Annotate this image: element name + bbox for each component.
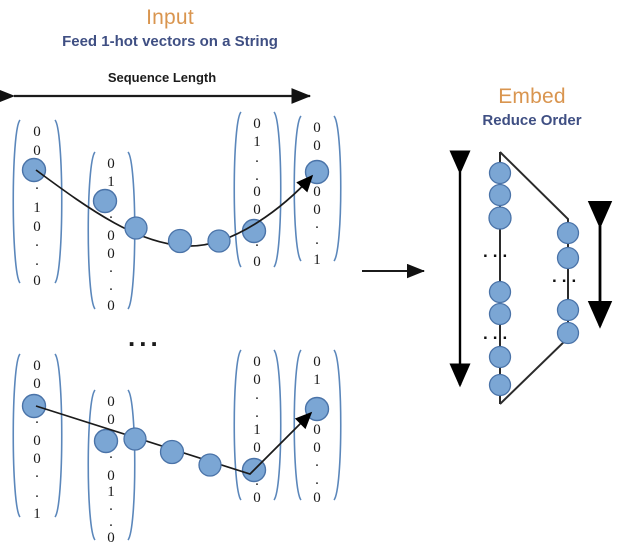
reduced-order-node	[558, 323, 579, 344]
svg-text:·: ·	[315, 220, 320, 236]
vector-digits: 0 1 0 0 · · 0	[313, 354, 321, 506]
high-order-node	[490, 304, 511, 325]
vector-digits: 0 1 · 0 0 · · 0	[107, 156, 115, 314]
one-hot-node	[243, 220, 266, 243]
svg-text:1: 1	[107, 174, 115, 190]
svg-text:·: ·	[35, 489, 40, 505]
reduced-order-node	[558, 248, 579, 269]
path-node	[169, 230, 192, 253]
svg-text:0: 0	[33, 358, 41, 374]
svg-text:0: 0	[253, 440, 261, 456]
svg-text:·: ·	[109, 264, 114, 280]
path-node	[199, 454, 221, 476]
path-node-group	[124, 428, 221, 476]
svg-text:1: 1	[107, 484, 115, 500]
svg-text:0: 0	[253, 116, 261, 132]
diagram-canvas: Input Feed 1-hot vectors on a String Seq…	[0, 0, 624, 552]
top-sequence-row: 0 0 · 1 0 · · 0 0 1 · 0 0 ·	[13, 112, 341, 314]
one-hot-node	[94, 190, 117, 213]
svg-text:·: ·	[35, 181, 40, 197]
svg-text:0: 0	[107, 412, 115, 428]
high-order-node	[490, 185, 511, 206]
svg-text:0: 0	[107, 394, 115, 410]
svg-text:·: ·	[35, 469, 40, 485]
high-order-node	[490, 375, 511, 396]
svg-text:1: 1	[253, 134, 261, 150]
vector-digits: 0 0 · 0 0 · · 1	[33, 358, 41, 522]
vector-digits: 0 0 · 1 0 · · 0	[33, 124, 41, 289]
svg-text:0: 0	[33, 376, 41, 392]
svg-text:·: ·	[35, 238, 40, 254]
svg-text:0: 0	[107, 228, 115, 244]
svg-text:0: 0	[253, 184, 261, 200]
svg-text:0: 0	[33, 124, 41, 140]
svg-text:0: 0	[33, 143, 41, 159]
path-node	[161, 441, 184, 464]
svg-text:0: 0	[313, 440, 321, 456]
vector-digits: 0 1 · · 0 0 · 0	[253, 116, 261, 270]
vector-digits: 0 0 · · 1 0 · 0	[253, 354, 261, 506]
high-order-node	[490, 347, 511, 368]
svg-text:0: 0	[33, 273, 41, 289]
svg-text:0: 0	[253, 372, 261, 388]
svg-text:0: 0	[313, 184, 321, 200]
svg-text:0: 0	[313, 202, 321, 218]
reduced-order-ellipsis: ...	[552, 268, 581, 285]
svg-text:0: 0	[313, 138, 321, 154]
svg-text:0: 0	[313, 354, 321, 370]
high-order-ellipsis-bottom: ...	[483, 325, 512, 342]
svg-text:1: 1	[313, 252, 321, 268]
vector-digits: 0 0 0 0 · · 1	[313, 120, 321, 268]
svg-text:0: 0	[33, 451, 41, 467]
svg-text:0: 0	[107, 468, 115, 484]
svg-text:1: 1	[33, 506, 41, 522]
svg-text:0: 0	[253, 490, 261, 506]
svg-text:0: 0	[107, 530, 115, 546]
path-node	[125, 217, 147, 239]
path-node-group	[125, 217, 230, 253]
one-hot-node	[23, 159, 46, 182]
svg-text:·: ·	[109, 502, 114, 518]
svg-text:1: 1	[313, 372, 321, 388]
svg-text:0: 0	[253, 202, 261, 218]
svg-text:0: 0	[313, 120, 321, 136]
svg-text:0: 0	[253, 254, 261, 270]
vector-digits: 0 0 · 0 1 · · 0	[107, 394, 115, 546]
high-order-ellipsis-top: ...	[483, 243, 512, 260]
reduced-order-node	[558, 223, 579, 244]
svg-text:0: 0	[313, 422, 321, 438]
high-order-node	[490, 282, 511, 303]
high-order-node	[490, 163, 511, 184]
path-node	[124, 428, 146, 450]
svg-text:0: 0	[253, 354, 261, 370]
svg-text:0: 0	[33, 433, 41, 449]
svg-text:1: 1	[253, 422, 261, 438]
svg-text:1: 1	[33, 200, 41, 216]
svg-text:0: 0	[33, 219, 41, 235]
svg-text:·: ·	[255, 391, 260, 407]
reduced-order-node	[558, 300, 579, 321]
one-hot-node	[306, 398, 329, 421]
path-node	[208, 230, 230, 252]
one-hot-node	[23, 395, 46, 418]
one-hot-node	[95, 430, 118, 453]
svg-text:0: 0	[107, 298, 115, 314]
svg-text:·: ·	[315, 458, 320, 474]
svg-text:·: ·	[35, 257, 40, 273]
svg-text:·: ·	[315, 236, 320, 252]
bottom-sequence-row: 0 0 · 0 0 · · 1 0 0 · 0 1 ·	[13, 350, 341, 546]
diagram-vector-layer: 0 0 · 1 0 · · 0 0 1 · 0 0 ·	[0, 0, 624, 552]
svg-text:0: 0	[107, 156, 115, 172]
svg-text:0: 0	[107, 246, 115, 262]
svg-text:·: ·	[255, 154, 260, 170]
high-order-node	[489, 207, 511, 229]
svg-text:·: ·	[109, 282, 114, 298]
svg-text:0: 0	[313, 490, 321, 506]
